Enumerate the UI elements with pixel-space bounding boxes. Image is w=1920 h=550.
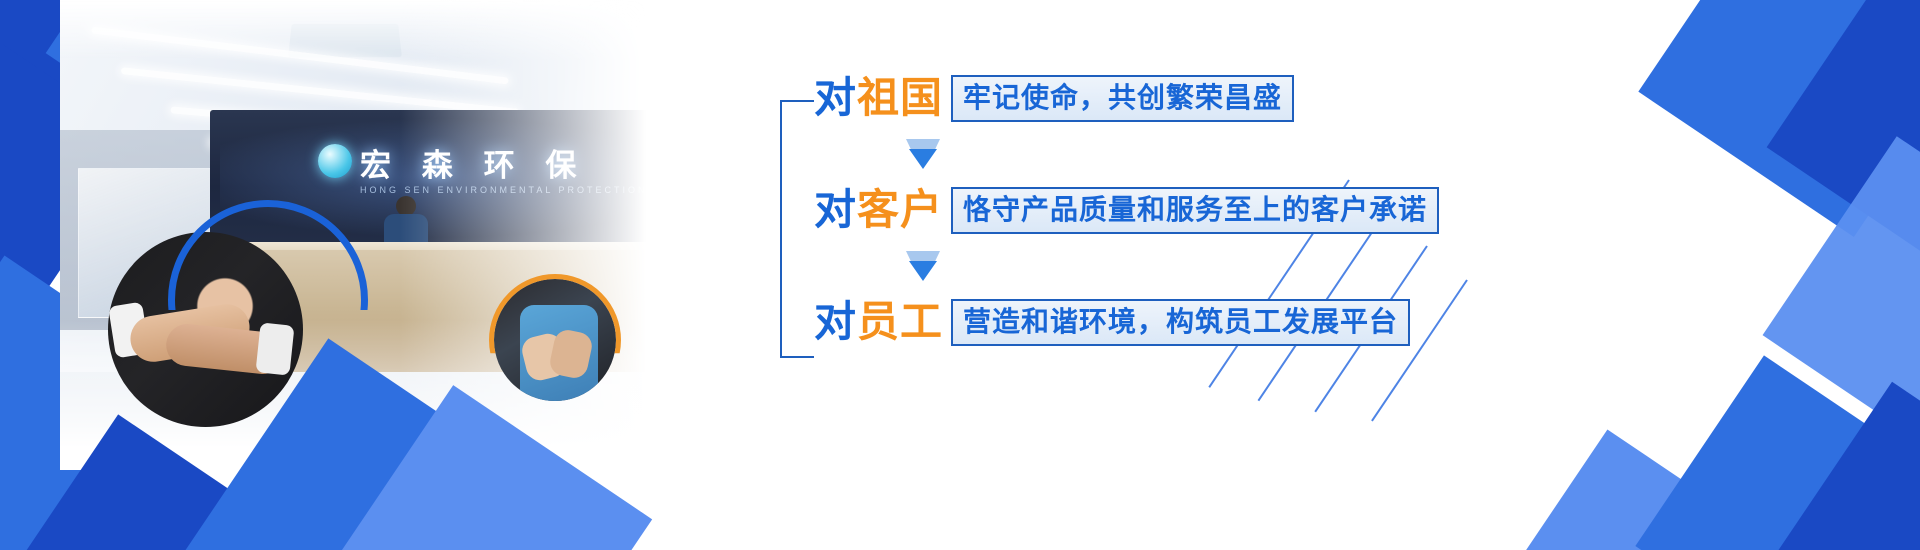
down-arrow-icon bbox=[906, 139, 940, 169]
commitment-row-country: 对 祖国 牢记使命，共创繁荣昌盛 bbox=[814, 70, 1540, 126]
row-prefix-customer: 对 bbox=[814, 189, 857, 231]
company-logo-icon bbox=[318, 144, 352, 178]
promo-banner: 宏 森 环 保 HONG SEN ENVIRONMENTAL PROTECTIO… bbox=[0, 0, 1920, 550]
handshake-cuff-right bbox=[255, 322, 294, 375]
row-statement-country: 牢记使命，共创繁荣昌盛 bbox=[951, 75, 1294, 122]
down-arrow-icon-top bbox=[906, 139, 940, 149]
row-prefix-employee: 对 bbox=[814, 301, 857, 343]
commitment-row-customer: 对 客户 恪守产品质量和服务至上的客户承诺 bbox=[814, 182, 1540, 238]
down-arrow-icon-top bbox=[906, 251, 940, 261]
commitment-row-employee: 对 员工 营造和谐环境，构筑员工发展平台 bbox=[814, 294, 1540, 350]
row-target-employee: 员工 bbox=[857, 301, 943, 343]
row-target-country: 祖国 bbox=[857, 77, 943, 119]
down-arrow-icon-bottom bbox=[909, 261, 937, 281]
arrow-row-2 bbox=[814, 238, 1540, 294]
row-target-customer: 客户 bbox=[857, 189, 943, 231]
row-prefix-country: 对 bbox=[814, 77, 857, 119]
commitment-rows: 对 祖国 牢记使命，共创繁荣昌盛 对 客户 恪守产品质量和服务至上的客户承诺 bbox=[814, 70, 1540, 350]
row-statement-customer: 恪守产品质量和服务至上的客户承诺 bbox=[951, 187, 1439, 234]
row-statement-employee: 营造和谐环境，构筑员工发展平台 bbox=[951, 299, 1410, 346]
down-arrow-icon bbox=[906, 251, 940, 281]
list-bracket bbox=[780, 100, 814, 358]
arrow-row-1 bbox=[814, 126, 1540, 182]
down-arrow-icon-bottom bbox=[909, 149, 937, 169]
commitment-list: 对 祖国 牢记使命，共创繁荣昌盛 对 客户 恪守产品质量和服务至上的客户承诺 bbox=[780, 70, 1540, 400]
